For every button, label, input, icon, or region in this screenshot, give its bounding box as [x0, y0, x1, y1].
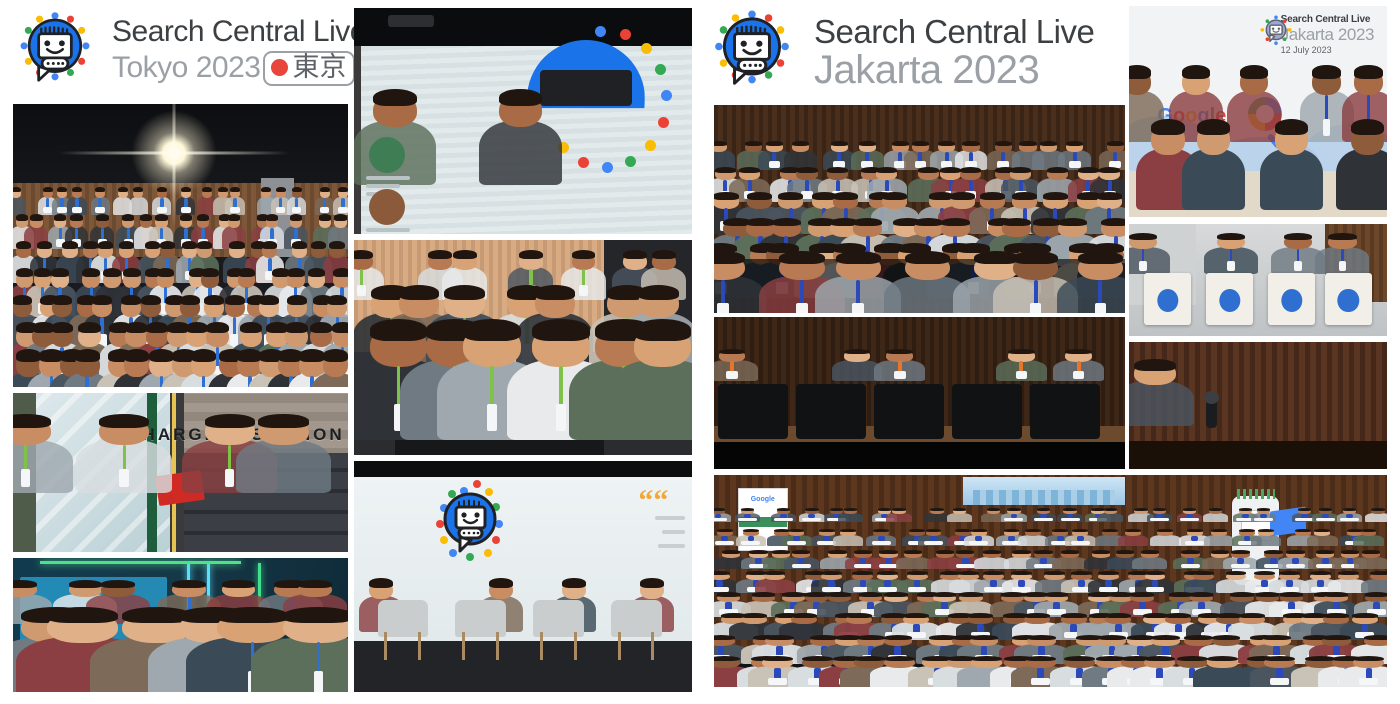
photo-tokyo-evening-reception [13, 558, 348, 692]
googlebot-bag-logo [1281, 289, 1302, 313]
googlebot-speech-bubble-logo [12, 8, 98, 94]
photo-tokyo-charging-station: CHARGING STATION [13, 393, 348, 552]
tokyo-event-header: Search Central Live Tokyo 2023 東京 [12, 8, 366, 94]
googlebot-tote-bag [1325, 273, 1371, 325]
chair-leg [651, 632, 654, 660]
photo-tokyo-heart-hands [354, 240, 692, 455]
photo-tokyo-audience-group [13, 104, 348, 387]
googlebot-tote-bag [1268, 273, 1314, 325]
photo-jakarta-panel [714, 317, 1125, 469]
japan-flag-icon [271, 59, 288, 76]
slide-speaker-caption-line [366, 228, 410, 232]
photo-jakarta-group-photo: Google [714, 475, 1387, 687]
chair-leg [384, 632, 387, 660]
slide-speaker-thumbnail [369, 137, 405, 173]
photo-tokyo-panel-stage: ““ [354, 461, 692, 692]
photo-tokyo-yukata-speaker [354, 8, 692, 234]
photo-jakarta-question-mic [1129, 342, 1387, 469]
googlebot-bag-logo [1219, 289, 1240, 313]
photo-jakarta-audience [714, 105, 1125, 313]
googlebot-bag-logo [1338, 289, 1359, 313]
tokyo-title-line2: Tokyo 2023 [112, 53, 260, 83]
chair-leg [574, 632, 577, 660]
panel-sofa [952, 384, 1022, 439]
slide-speaker-caption-line [366, 184, 400, 188]
tokyo-title-line1: Search Central Live [112, 17, 366, 47]
chair-leg [418, 632, 421, 660]
googlebot-tote-bag [1144, 273, 1190, 325]
chair-leg [618, 632, 621, 660]
googlebot-speech-bubble-logo [706, 6, 798, 98]
jakarta-event-header: Search Central Live Jakarta 2023 [706, 6, 1094, 98]
tokyo-kanji-label: 東京 [292, 54, 346, 81]
panel-sofa [1030, 384, 1100, 439]
tokyo-flag-badge: 東京 [263, 51, 355, 86]
jakarta-title-line2: Jakarta 2023 [814, 50, 1094, 90]
photo-jakarta-swag-bags [1129, 224, 1387, 336]
photo-jakarta-photo-booth: Search Central Live Jakarta 2023 12 July… [1129, 6, 1387, 217]
chair-leg [540, 632, 543, 660]
chair-leg [462, 632, 465, 660]
slide-speaker-caption-line [366, 176, 410, 180]
panel-sofa [874, 384, 944, 439]
microphone-icon [1206, 398, 1217, 428]
slide-speaker-thumbnail [369, 189, 405, 225]
panel-sofa [718, 384, 788, 439]
googlebot-tote-bag [1206, 273, 1252, 325]
chair-leg [496, 632, 499, 660]
jakarta-title-line1: Search Central Live [814, 15, 1094, 48]
googlebot-bag-logo [1157, 289, 1178, 313]
collage-page: Search Central Live Tokyo 2023 東京 [0, 0, 1400, 704]
panel-sofa [796, 384, 866, 439]
